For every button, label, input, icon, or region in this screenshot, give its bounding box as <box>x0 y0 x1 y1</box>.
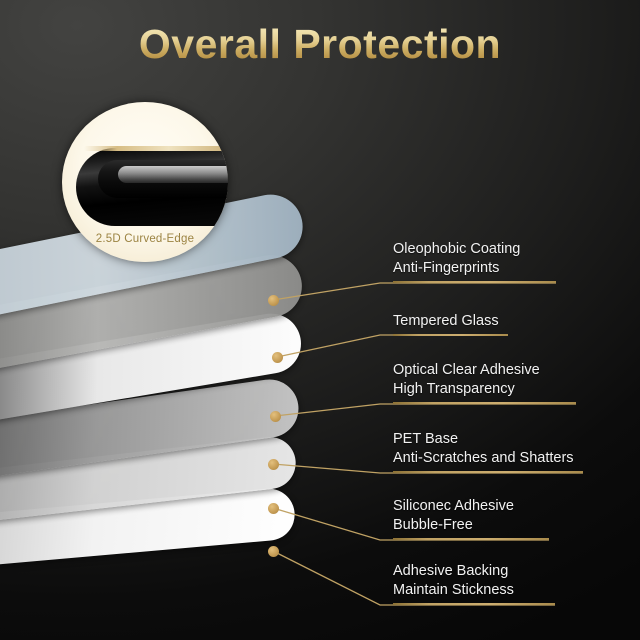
callout-dot-tempered-glass[interactable] <box>272 352 283 363</box>
callout-dot-siliconec-adhesive[interactable] <box>268 503 279 514</box>
callout-label-siliconec-adhesive-line-2: Bubble-Free <box>393 516 549 535</box>
callout-rule-siliconec-adhesive <box>393 538 549 540</box>
callout-label-adhesive-backing-line-1: Adhesive Backing <box>393 562 555 581</box>
curved-edge-inset: 2.5D Curved-Edge <box>62 102 228 262</box>
phone-gold-trim-graphic <box>84 146 228 151</box>
callout-label-optical-clear-adhesive: Optical Clear AdhesiveHigh Transparency <box>393 361 576 404</box>
callout-label-pet-base: PET BaseAnti-Scratches and Shatters <box>393 430 583 473</box>
callout-rule-pet-base <box>393 471 583 473</box>
product-infographic: Overall Protection 2.5D Curved-Edge Oleo… <box>0 0 640 640</box>
callout-dot-pet-base[interactable] <box>268 459 279 470</box>
callout-rule-adhesive-backing <box>393 603 555 605</box>
inset-caption: 2.5D Curved-Edge <box>62 233 228 245</box>
callout-label-optical-clear-adhesive-line-2: High Transparency <box>393 380 576 399</box>
callout-label-pet-base-line-1: PET Base <box>393 430 583 449</box>
callout-label-tempered-glass-line-1: Tempered Glass <box>393 312 508 331</box>
callout-rule-tempered-glass <box>393 334 508 336</box>
callout-dot-adhesive-backing[interactable] <box>268 546 279 557</box>
phone-screen-highlight-graphic <box>118 166 228 183</box>
page-title: Overall Protection <box>139 24 501 65</box>
callout-label-oleophobic-coating-line-2: Anti-Fingerprints <box>393 259 556 278</box>
callout-label-adhesive-backing: Adhesive BackingMaintain Stickness <box>393 562 555 605</box>
callout-label-tempered-glass: Tempered Glass <box>393 312 508 336</box>
callout-rule-oleophobic-coating <box>393 281 556 283</box>
callout-label-adhesive-backing-line-2: Maintain Stickness <box>393 581 555 600</box>
callout-label-oleophobic-coating: Oleophobic CoatingAnti-Fingerprints <box>393 240 556 283</box>
callout-overlay: Oleophobic CoatingAnti-FingerprintsTempe… <box>0 0 640 640</box>
callout-rule-optical-clear-adhesive <box>393 402 576 404</box>
callout-label-oleophobic-coating-line-1: Oleophobic Coating <box>393 240 556 259</box>
callout-dot-optical-clear-adhesive[interactable] <box>270 411 281 422</box>
callout-label-pet-base-line-2: Anti-Scratches and Shatters <box>393 449 583 468</box>
callout-dot-oleophobic-coating[interactable] <box>268 295 279 306</box>
callout-label-siliconec-adhesive-line-1: Siliconec Adhesive <box>393 497 549 516</box>
page-title-wrap: Overall Protection <box>0 24 640 65</box>
callout-label-siliconec-adhesive: Siliconec AdhesiveBubble-Free <box>393 497 549 540</box>
callout-label-optical-clear-adhesive-line-1: Optical Clear Adhesive <box>393 361 576 380</box>
